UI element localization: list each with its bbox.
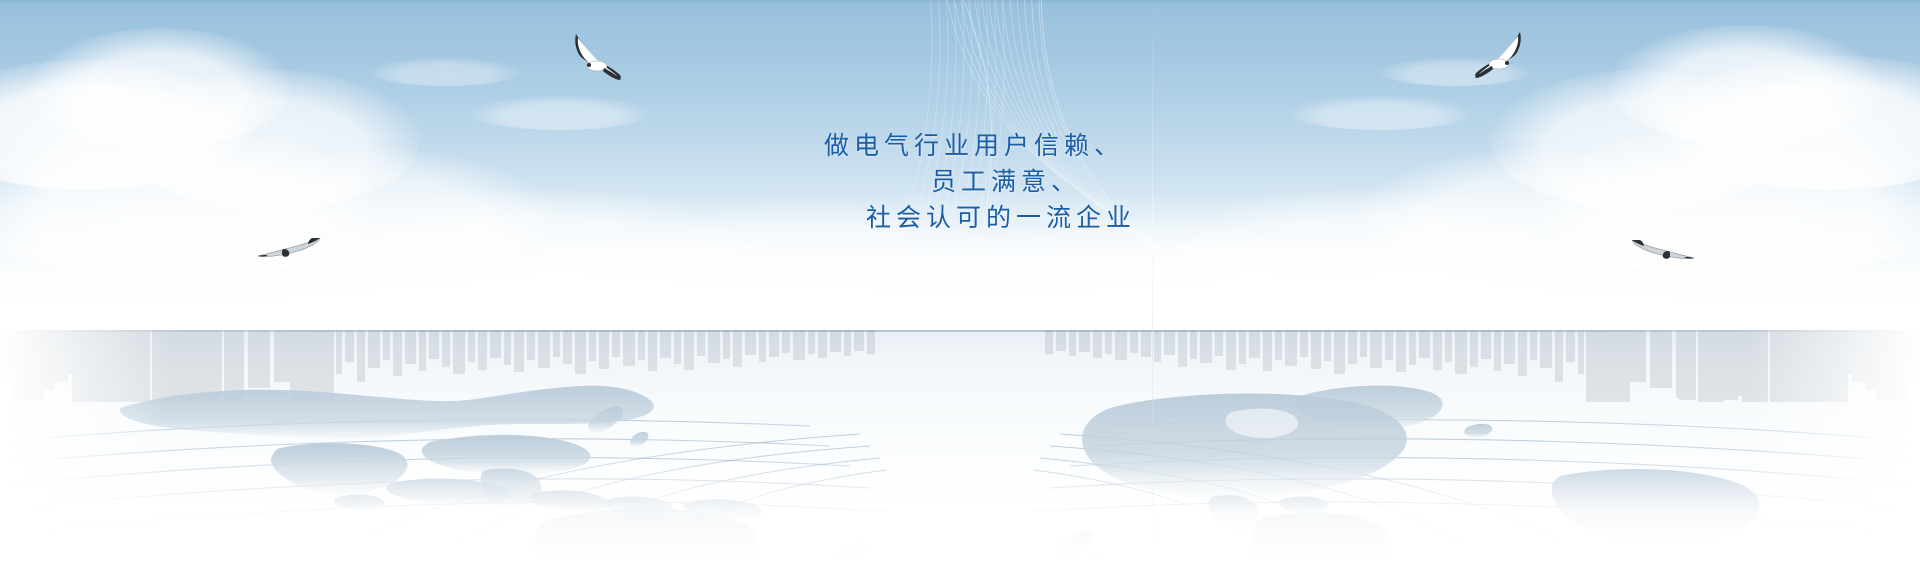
world-map-graphic	[0, 330, 1920, 562]
ground-right-fade	[1750, 330, 1920, 562]
banner-root: 做电气行业用户信赖、 员工满意、 社会认可的一流企业	[0, 0, 1920, 562]
reflective-ground	[0, 330, 1920, 562]
sky-background	[0, 0, 1920, 340]
ground-left-fade	[0, 330, 170, 562]
city-reflection-left	[0, 330, 880, 402]
ground-bottom-fade	[0, 452, 1920, 562]
city-reflection-right	[1040, 330, 1920, 402]
horizon-seam	[0, 330, 1920, 332]
sky-top-edge	[0, 0, 1920, 3]
